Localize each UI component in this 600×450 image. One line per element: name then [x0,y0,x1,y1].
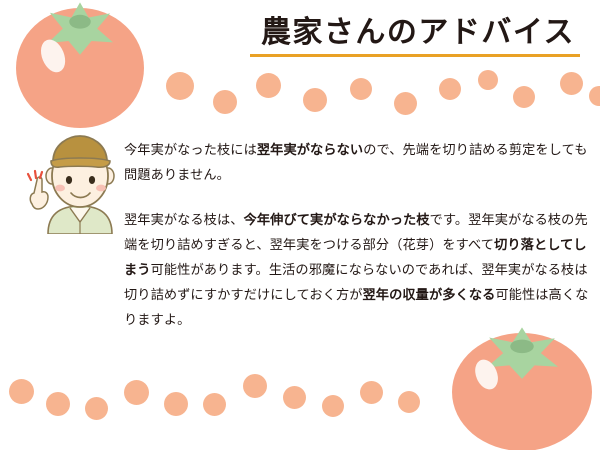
decorative-dot [322,395,344,417]
decorative-dot [256,73,281,98]
decorative-dot [513,86,535,108]
decorative-dot [9,379,34,404]
emphasis-text: 今年伸びて実がならなかった枝 [244,213,430,228]
emphasis-text: 翌年実がならない [257,143,363,158]
page-title-block: 農家さんのアドバイス [250,14,586,57]
decorative-dot [46,392,70,416]
persimmon-illustration-bottom-right [452,333,592,450]
decorative-dot [560,72,583,95]
slide-canvas: 農家さんのアドバイス [0,0,600,450]
decorative-dot [589,86,600,106]
decorative-dot [203,393,226,416]
title-underline-rule [250,54,580,57]
body-text: 可能性があります。 [151,263,269,278]
decorative-dot [350,78,372,100]
decorative-dot [124,380,149,405]
decorative-dot [303,88,327,112]
decorative-dot [243,374,267,398]
body-text: です。 [430,213,469,228]
decorative-dot [394,92,417,115]
decorative-dot [478,70,498,90]
advice-paragraph-1: 今年実がなった枝には翌年実がならないので、先端を切り詰める剪定をしても問題ありま… [124,138,590,188]
decorative-dot [439,78,461,100]
emphasis-text: 翌年の収量が多くなる [363,288,496,303]
decorative-dot [398,391,420,413]
advice-paragraph-2: 翌年実がなる枝は、今年伸びて実がならなかった枝です。翌年実がなる枝の先端を切り詰… [124,208,590,333]
farmer-character-illustration [26,126,134,234]
decorative-dot [164,392,188,416]
persimmon-illustration-top-left [16,8,144,128]
page-title: 農家さんのアドバイス [250,14,586,52]
decorative-dot [166,72,194,100]
decorative-dot [283,386,306,409]
decorative-dot [85,397,108,420]
decorative-dot [360,381,383,404]
decorative-dot [213,90,237,114]
body-text: 今年実がなった枝には [124,143,257,158]
body-text: 翌年実がなる枝は、 [124,213,244,228]
